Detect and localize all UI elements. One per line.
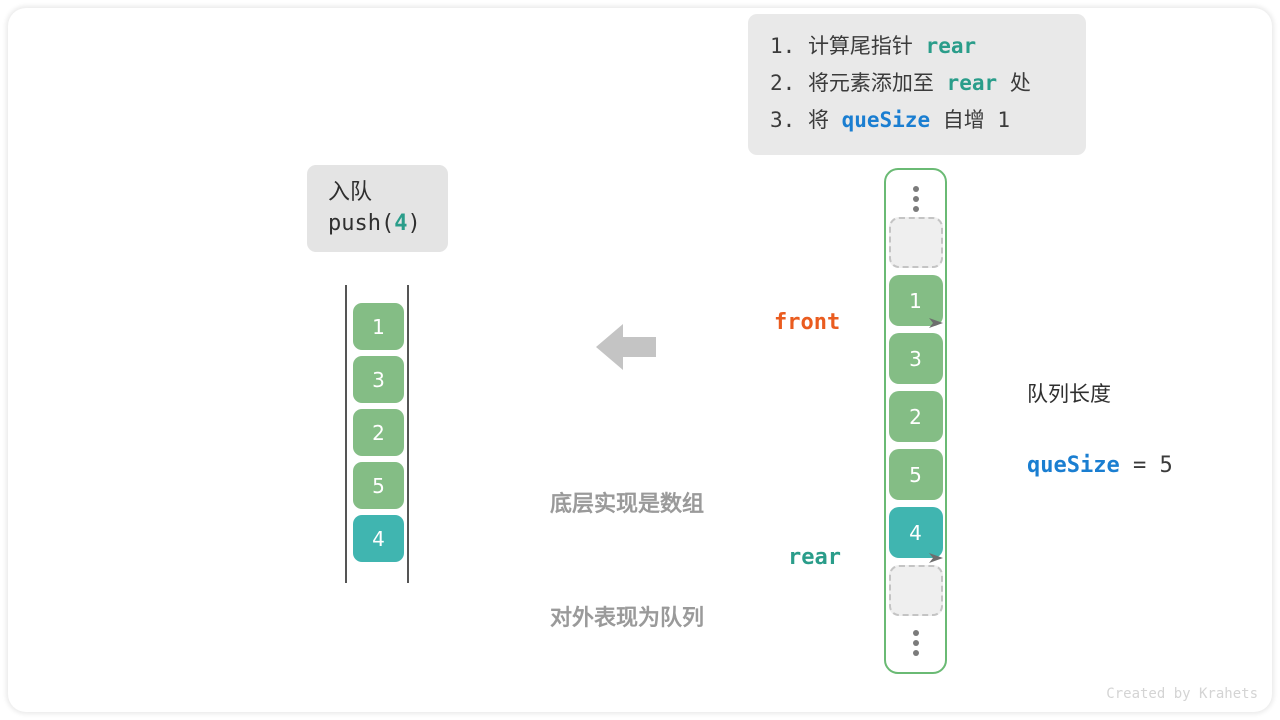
steps-panel: 1. 计算尾指针 rear 2. 将元素添加至 rear 处 3. 将 queS… — [748, 14, 1086, 155]
queue-size-equals: = 5 — [1120, 453, 1173, 478]
push-code-suffix: ) — [407, 211, 420, 236]
diagram-caption: 底层实现是数组 对外表现为队列 — [527, 410, 727, 714]
push-operation-box: 入队 push(4) — [307, 165, 448, 252]
array-slot: 5 — [889, 449, 943, 500]
push-box-title: 入队 — [328, 178, 448, 208]
dot — [913, 186, 919, 192]
step-1-number: 1. — [770, 34, 808, 58]
queue-cell: 1 — [353, 303, 404, 350]
pointer-arrow-icon — [849, 285, 942, 360]
push-code-argument: 4 — [394, 211, 407, 236]
queue-size-variable: queSize — [1027, 453, 1120, 478]
step-1-text: 计算尾指针 — [808, 34, 926, 58]
footer-credit: Created by Krahets — [1106, 686, 1258, 702]
queue-cell: 5 — [353, 462, 404, 509]
step-3-number: 3. — [770, 108, 808, 132]
dot — [913, 650, 919, 656]
logical-queue: 1 3 2 5 4 — [345, 285, 409, 583]
step-line-1: 1. 计算尾指针 rear — [748, 28, 1086, 65]
queue-size-value-line: queSize = 5 — [1027, 448, 1173, 484]
ellipsis-bottom-icon — [913, 630, 919, 656]
array-slot-empty — [889, 217, 943, 268]
step-2-number: 2. — [770, 71, 808, 95]
caption-line-2: 对外表现为队列 — [527, 600, 727, 638]
rear-pointer: rear — [788, 520, 943, 595]
queue-cell: 2 — [353, 409, 404, 456]
left-arrow-icon — [596, 322, 656, 372]
dot — [913, 206, 919, 212]
queue-cell: 3 — [353, 356, 404, 403]
step-3-text-post: 自增 1 — [930, 108, 1010, 132]
step-3-text: 将 — [808, 108, 842, 132]
step-2-text: 将元素添加至 — [808, 71, 947, 95]
step-3-keyword: queSize — [842, 108, 931, 132]
physical-array-container: 1 3 2 5 4 — [884, 168, 947, 674]
push-code-prefix: push( — [328, 211, 394, 236]
step-1-keyword: rear — [926, 34, 977, 58]
queue-cell-list: 1 3 2 5 4 — [353, 303, 404, 568]
dot — [913, 630, 919, 636]
step-line-2: 2. 将元素添加至 rear 处 — [748, 65, 1086, 102]
front-pointer: front — [774, 285, 943, 360]
dot — [913, 640, 919, 646]
front-pointer-label: front — [774, 310, 840, 335]
array-slot: 2 — [889, 391, 943, 442]
queue-size-note: 队列长度 queSize = 5 — [1027, 340, 1173, 522]
queue-rail-right — [407, 285, 409, 583]
queue-cell: 4 — [353, 515, 404, 562]
step-2-keyword: rear — [947, 71, 998, 95]
queue-size-title: 队列长度 — [1027, 378, 1173, 410]
ellipsis-top-icon — [913, 186, 919, 212]
diagram-canvas: 1. 计算尾指针 rear 2. 将元素添加至 rear 处 3. 将 queS… — [0, 0, 1280, 720]
push-box-code: push(4) — [328, 208, 448, 240]
step-2-text-post: 处 — [997, 71, 1031, 95]
rear-pointer-label: rear — [788, 545, 841, 570]
queue-rail-left — [345, 285, 347, 583]
pointer-arrow-icon — [850, 520, 943, 595]
dot — [913, 196, 919, 202]
caption-line-1: 底层实现是数组 — [527, 486, 727, 524]
step-line-3: 3. 将 queSize 自增 1 — [748, 102, 1086, 139]
